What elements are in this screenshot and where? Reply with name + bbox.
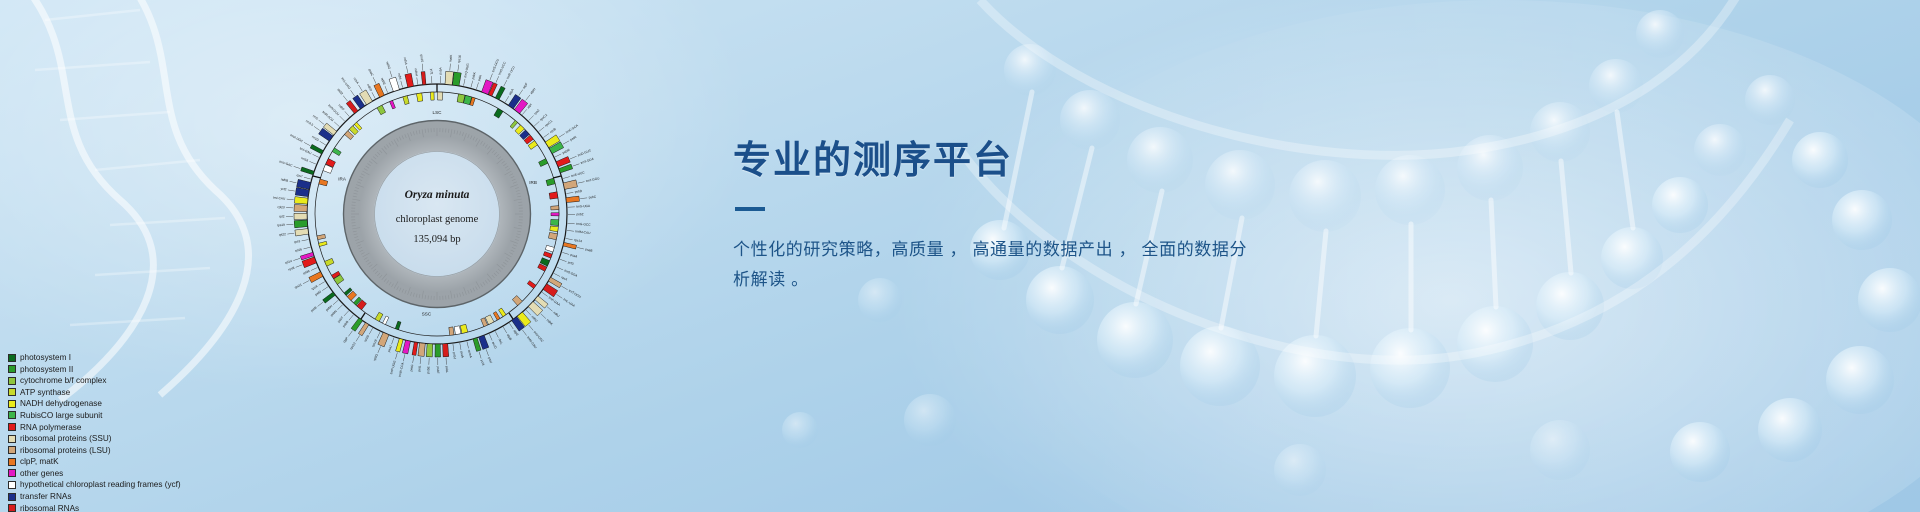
gene-label: ndhH — [414, 68, 419, 77]
gene-label: petL — [417, 365, 422, 372]
gene-leader-line — [562, 286, 568, 290]
gene-label: trnD-GUC — [577, 148, 592, 157]
gene-label: rpl16 — [295, 247, 303, 253]
gene-leader-line — [476, 82, 478, 89]
legend-color-swatch — [8, 481, 16, 489]
legend-item: RubisCO large subunit — [8, 410, 238, 421]
gene-feature-block — [426, 344, 433, 357]
gene-label: trnY-GUA — [580, 156, 595, 165]
gene-label: psbZ — [576, 212, 583, 216]
gene-feature-block — [510, 120, 518, 128]
gene-feature-block — [403, 96, 409, 105]
gene-label: trnE-UUC — [571, 170, 586, 178]
gene-leader-line — [390, 71, 392, 78]
gene-label: rps16 — [457, 55, 462, 64]
gene-feature-block — [375, 312, 383, 321]
gene-label: petA — [459, 351, 464, 359]
gene-label: trnG-GCC — [576, 222, 591, 227]
gene-feature-block — [527, 281, 536, 289]
gene-label: atpA — [508, 87, 515, 95]
legend-item: cytochrome b/f complex — [8, 375, 238, 386]
gene-label: ndhE — [380, 77, 387, 85]
gene-feature-block — [383, 316, 389, 325]
gene-leader-line — [395, 352, 397, 359]
title-divider — [735, 207, 765, 211]
gene-leader-line — [417, 77, 418, 84]
gene-label: rps7 — [296, 173, 303, 179]
gene-feature-block — [430, 92, 434, 100]
legend-item-label: transfer RNAs — [20, 492, 71, 501]
gene-leader-line — [539, 127, 544, 131]
legend-color-swatch — [8, 388, 16, 396]
gene-label: rpl22 — [279, 232, 287, 237]
gene-label: rpl14 — [285, 259, 293, 265]
gene-leader-line — [302, 240, 309, 241]
gene-label: ycf1 — [429, 69, 433, 75]
legend-item: ribosomal proteins (SSU) — [8, 433, 238, 444]
gene-leader-line — [519, 90, 523, 96]
gene-leader-line — [557, 267, 563, 270]
gene-label: rpl2 — [279, 214, 285, 218]
gene-label: petN — [569, 135, 577, 142]
gene-label: trnC-GCA — [565, 123, 580, 134]
gene-leader-line — [567, 230, 574, 231]
genome-species-name: Oryza minuta — [405, 189, 470, 201]
gene-feature-block — [389, 77, 399, 91]
gene-label: rpl33 — [372, 353, 379, 361]
gene-leader-line — [319, 120, 324, 124]
gene-leader-line — [486, 349, 488, 356]
gene-label: rps3 — [294, 239, 301, 244]
gene-label: rpl20 — [363, 334, 370, 342]
gene-leader-line — [522, 109, 527, 114]
gene-label: rpl23 — [277, 205, 284, 209]
gene-leader-line — [458, 65, 459, 72]
gene-label: ndhC — [531, 315, 540, 324]
gene-feature-block — [550, 226, 559, 232]
gene-label: trnG-UCC — [497, 60, 507, 75]
gene-label: psbA — [438, 66, 442, 74]
gene-label: psbD — [574, 189, 583, 194]
gene-feature-block — [566, 196, 579, 202]
legend-color-swatch — [8, 435, 16, 443]
gene-feature-block — [412, 342, 418, 355]
gene-feature-block — [319, 241, 328, 246]
gene-feature-block — [310, 144, 323, 154]
gene-leader-line — [503, 327, 507, 333]
gene-feature-block — [396, 338, 404, 352]
gene-leader-line — [580, 198, 587, 199]
legend-item-label: clpP, matK — [20, 457, 59, 466]
gene-leader-line — [547, 307, 552, 312]
legend-item: photosystem I — [8, 352, 238, 363]
gene-leader-line — [563, 141, 569, 144]
gene-feature-block — [460, 324, 468, 333]
gene-label: trnT-UGU — [568, 289, 582, 300]
hero-description: 个性化的研究策略，高质量 ， 高通量的数据产出 ， 全面的数据分析解读 。 — [733, 235, 1263, 297]
gene-feature-block — [563, 180, 577, 190]
gene-leader-line — [570, 156, 576, 159]
gene-feature-block — [563, 242, 577, 249]
gene-leader-line — [529, 115, 534, 120]
gene-leader-line — [471, 81, 473, 88]
gene-feature-block — [443, 344, 449, 357]
gene-feature-block — [452, 72, 461, 86]
gene-label: psbE — [426, 366, 430, 373]
gene-leader-line — [541, 314, 546, 319]
gene-leader-line — [343, 96, 347, 101]
gene-leader-line — [304, 247, 311, 249]
gene-label: psbB — [342, 320, 350, 328]
gene-label: petB — [310, 306, 318, 313]
genome-region-label: IRA — [338, 177, 347, 182]
gene-label: rps18 — [371, 339, 378, 348]
gene-label: psbM — [562, 148, 571, 155]
legend-item-label: NADH dehydrogenase — [20, 399, 102, 408]
gene-label: trnL-UAG — [340, 77, 351, 91]
gene-label: rps8 — [288, 266, 295, 272]
genome-length: 135,094 bp — [413, 234, 460, 245]
legend-color-swatch — [8, 377, 16, 385]
gene-feature-block — [418, 343, 425, 357]
gene-feature-block — [323, 292, 336, 303]
gene-label: trnM-CAU — [526, 335, 538, 349]
gene-feature-block — [377, 105, 386, 115]
gene-leader-line — [534, 121, 539, 126]
gene-leader-line — [460, 343, 461, 350]
legend-item-label: ATP synthase — [20, 388, 70, 397]
gene-label: atpF — [522, 82, 529, 90]
genome-legend: photosystem Iphotosystem IIcytochrome b/… — [8, 352, 238, 512]
gene-label: ccsA — [353, 77, 360, 86]
gene-leader-line — [505, 96, 509, 102]
gene-leader-line — [413, 356, 414, 363]
gene-label: psaC — [368, 68, 375, 77]
gene-label: rps14 — [574, 238, 583, 243]
legend-color-swatch — [8, 446, 16, 454]
gene-leader-line — [344, 311, 349, 316]
gene-leader-line — [320, 141, 326, 145]
gene-leader-line — [577, 247, 584, 249]
legend-color-swatch — [8, 411, 16, 419]
gene-leader-line — [334, 122, 339, 127]
gene-label: rpoC1 — [544, 119, 553, 128]
gene-label: rrn5 — [312, 114, 319, 121]
gene-leader-line — [311, 268, 317, 271]
gene-leader-line — [542, 292, 548, 296]
gene-feature-block — [294, 213, 307, 219]
legend-color-swatch — [8, 423, 16, 431]
gene-feature-block — [543, 252, 552, 259]
gene-leader-line — [559, 134, 565, 138]
legend-item: RNA polymerase — [8, 421, 238, 432]
gene-leader-line — [338, 305, 343, 310]
genome-region-label: LSC — [433, 110, 443, 115]
gene-feature-block — [499, 308, 506, 317]
gene-label: rpl36 — [302, 269, 310, 276]
gene-label: ndhK — [546, 318, 555, 327]
gene-label: ndhF — [338, 103, 346, 111]
gene-leader-line — [313, 154, 319, 157]
gene-leader-line — [401, 81, 403, 88]
gene-label: accD — [491, 341, 498, 350]
gene-label: trnP-UGG — [389, 360, 397, 375]
gene-leader-line — [557, 294, 563, 298]
legend-item: clpP, matK — [8, 456, 238, 467]
gene-label: ycf2 — [280, 187, 287, 192]
legend-item-label: cytochrome b/f complex — [20, 376, 106, 385]
gene-leader-line — [359, 85, 363, 91]
genome-subtitle: chloroplast genome — [396, 214, 479, 225]
gene-leader-line — [319, 282, 325, 286]
gene-feature-block — [548, 232, 557, 239]
gene-leader-line — [489, 334, 492, 340]
gene-label: psbJ — [452, 352, 457, 360]
gene-leader-line — [356, 335, 360, 341]
gene-leader-line — [349, 315, 353, 320]
gene-feature-block — [493, 312, 500, 321]
legend-color-swatch — [8, 504, 16, 512]
gene-feature-block — [494, 108, 503, 118]
gene-leader-line — [522, 330, 526, 336]
legend-item: hypothetical chloroplast reading frames … — [8, 479, 238, 490]
gene-label: ycf4 — [480, 359, 486, 366]
gene-label: ndhD — [366, 83, 373, 92]
legend-item-label: hypothetical chloroplast reading frames … — [20, 480, 181, 489]
gene-leader-line — [369, 328, 372, 334]
gene-leader-line — [526, 310, 531, 315]
gene-feature-block — [549, 192, 558, 199]
gene-leader-line — [373, 77, 376, 83]
gene-label: psbF — [436, 366, 440, 373]
gene-feature-block — [551, 213, 559, 216]
legend-color-swatch — [8, 493, 16, 501]
gene-leader-line — [286, 224, 293, 225]
legend-item: NADH dehydrogenase — [8, 398, 238, 409]
legend-item-label: photosystem I — [20, 353, 71, 362]
gene-leader-line — [420, 357, 421, 364]
gene-label: psbC — [588, 195, 597, 200]
gene-leader-line — [566, 238, 573, 239]
legend-color-swatch — [8, 365, 16, 373]
chloroplast-genome-map: psbAmatKrps16trnQ-UUGpsbKpsbItrnS-GCUtrn… — [248, 8, 640, 412]
gene-leader-line — [288, 190, 295, 191]
gene-leader-line — [495, 331, 498, 337]
gene-feature-block — [402, 340, 410, 354]
gene-label: ndhI — [397, 73, 403, 80]
gene-feature-block — [421, 72, 426, 85]
gene-leader-line — [509, 323, 513, 329]
legend-color-swatch — [8, 354, 16, 362]
gene-label: ndhA — [403, 57, 409, 66]
gene-label: rbcL — [497, 338, 503, 346]
gene-label: rpoB — [549, 127, 557, 134]
gene-label: rps15 — [419, 54, 424, 63]
gene-label: petG — [409, 364, 414, 372]
gene-leader-line — [304, 142, 310, 145]
gene-leader-line — [287, 199, 294, 200]
gene-label: ndhG — [385, 61, 391, 70]
gene-leader-line — [377, 332, 380, 338]
gene-leader-line — [309, 161, 315, 164]
gene-feature-block — [378, 332, 389, 347]
gene-label: trnQ-UUG — [463, 62, 470, 77]
legend-item-label: RNA polymerase — [20, 423, 81, 432]
legend-color-swatch — [8, 469, 16, 477]
gene-leader-line — [560, 259, 567, 261]
legend-item-label: other genes — [20, 469, 63, 478]
gene-label: trnR-UCU — [506, 65, 516, 80]
legend-color-swatch — [8, 458, 16, 466]
gene-label: ndhB — [280, 177, 288, 183]
gene-leader-line — [392, 338, 394, 345]
legend-item: ribosomal proteins (LSU) — [8, 445, 238, 456]
gene-label: trnS-UGA — [576, 204, 591, 209]
gene-leader-line — [526, 95, 530, 101]
gene-feature-block — [435, 344, 441, 357]
gene-label: psbI — [477, 74, 483, 81]
gene-leader-line — [562, 252, 569, 254]
gene-leader-line — [378, 346, 381, 352]
genome-region-label: SSC — [422, 312, 432, 317]
gene-feature-block — [495, 86, 505, 100]
gene-leader-line — [294, 166, 301, 168]
gene-leader-line — [464, 79, 465, 86]
legend-item: other genes — [8, 468, 238, 479]
gene-feature-block — [546, 178, 555, 186]
gene-leader-line — [406, 66, 407, 73]
gene-feature-block — [317, 234, 326, 239]
gene-leader-line — [351, 90, 355, 96]
gene-leader-line — [422, 64, 423, 71]
gene-label: ycf3 — [567, 260, 574, 266]
gene-leader-line — [529, 325, 533, 330]
gene-leader-line — [303, 281, 309, 284]
gene-feature-block — [551, 206, 559, 210]
gene-leader-line — [322, 287, 328, 291]
gene-label: matK — [448, 54, 453, 63]
gene-feature-block — [294, 204, 307, 211]
gene-label: ndhJ — [552, 311, 560, 319]
page-title: 专业的测序平台 — [733, 140, 1433, 183]
gene-label: psbK — [471, 71, 477, 80]
gene-feature-block — [445, 71, 454, 85]
legend-item-label: ribosomal proteins (SSU) — [20, 434, 111, 443]
gene-leader-line — [385, 86, 388, 92]
gene-label: trnW-CCA — [398, 361, 405, 377]
gene-leader-line — [573, 164, 580, 166]
legend-item: ribosomal RNAs — [8, 503, 238, 512]
gene-leader-line — [372, 92, 375, 98]
gene-feature-block — [309, 272, 323, 283]
legend-item-label: ribosomal proteins (LSU) — [20, 446, 111, 455]
gene-leader-line — [554, 273, 560, 276]
gene-label: psaB — [585, 247, 593, 253]
gene-leader-line — [450, 64, 451, 71]
gene-leader-line — [340, 116, 345, 121]
legend-color-swatch — [8, 400, 16, 408]
gene-leader-line — [496, 76, 499, 82]
gene-leader-line — [333, 300, 338, 305]
gene-label: trnF-GAA — [548, 296, 562, 308]
gene-label: psaI — [487, 357, 493, 364]
gene-label: rrn4.5 — [305, 119, 314, 127]
gene-feature-block — [545, 245, 554, 252]
gene-feature-block — [512, 296, 522, 306]
gene-label: rrn23 — [311, 135, 320, 142]
gene-feature-block — [295, 229, 309, 236]
gene-feature-block — [390, 100, 396, 109]
gene-label: psbN — [330, 309, 339, 318]
legend-item-label: RubisCO large subunit — [20, 411, 102, 420]
gene-label: trnfM-CAU — [575, 229, 591, 235]
gene-label: trnA-UGC — [290, 133, 305, 143]
gene-feature-block — [294, 220, 307, 228]
gene-feature-block — [437, 92, 442, 100]
gene-leader-line — [578, 182, 585, 184]
gene-label: atpB — [506, 333, 513, 341]
gene-leader-line — [453, 344, 454, 351]
gene-leader-line — [296, 265, 303, 267]
legend-item: ATP synthase — [8, 387, 238, 398]
legend-item: transfer RNAs — [8, 491, 238, 502]
gene-feature-block — [405, 73, 414, 87]
gene-leader-line — [318, 302, 324, 306]
gene-leader-line — [293, 258, 300, 260]
gene-leader-line — [348, 331, 352, 337]
gene-feature-block — [395, 321, 401, 330]
gene-label: petD — [314, 289, 322, 296]
gene-label: rpoC2 — [539, 113, 548, 122]
hero-copy: 专业的测序平台 个性化的研究策略，高质量 ， 高通量的数据产出 ， 全面的数据分… — [733, 140, 1433, 296]
gene-label: trnV-GAC — [279, 160, 294, 168]
gene-leader-line — [467, 342, 469, 349]
gene-label: psaJ — [387, 345, 393, 353]
gene-leader-line — [304, 177, 311, 179]
gene-label: atpH — [529, 87, 537, 95]
gene-leader-line — [566, 192, 573, 193]
gene-label: trnI-CAU — [273, 196, 286, 201]
gene-leader-line — [543, 133, 549, 137]
gene-label: rrn16 — [300, 156, 309, 163]
gene-label: rps2 — [533, 108, 540, 115]
gene-label: psaA — [570, 253, 579, 259]
gene-label: trnT-GGU — [585, 176, 600, 183]
gene-leader-line — [490, 74, 493, 81]
genome-region-label: IRB — [529, 180, 537, 185]
gene-leader-line — [314, 126, 320, 130]
legend-item: photosystem II — [8, 364, 238, 375]
gene-leader-line — [345, 111, 350, 116]
gene-leader-line — [287, 233, 294, 234]
gene-feature-block — [539, 159, 548, 167]
hero-banner: psbAmatKrps16trnQ-UUGpsbKpsbItrnS-GCUtrn… — [0, 0, 1920, 512]
gene-leader-line — [290, 181, 297, 183]
gene-label: rps4 — [561, 275, 569, 281]
gene-feature-block — [332, 148, 341, 156]
gene-label: rps19 — [277, 223, 285, 228]
gene-label: rps11 — [294, 282, 303, 289]
gene-feature-block — [325, 258, 334, 266]
legend-item-label: ribosomal RNAs — [20, 504, 79, 512]
gene-leader-line — [563, 177, 570, 179]
gene-label: psbL — [445, 366, 449, 373]
gene-feature-block — [294, 197, 308, 205]
gene-feature-block — [449, 327, 454, 335]
gene-label: rpl32 — [336, 88, 344, 96]
gene-label: cemA — [467, 349, 473, 359]
gene-label: clpP — [342, 336, 349, 343]
